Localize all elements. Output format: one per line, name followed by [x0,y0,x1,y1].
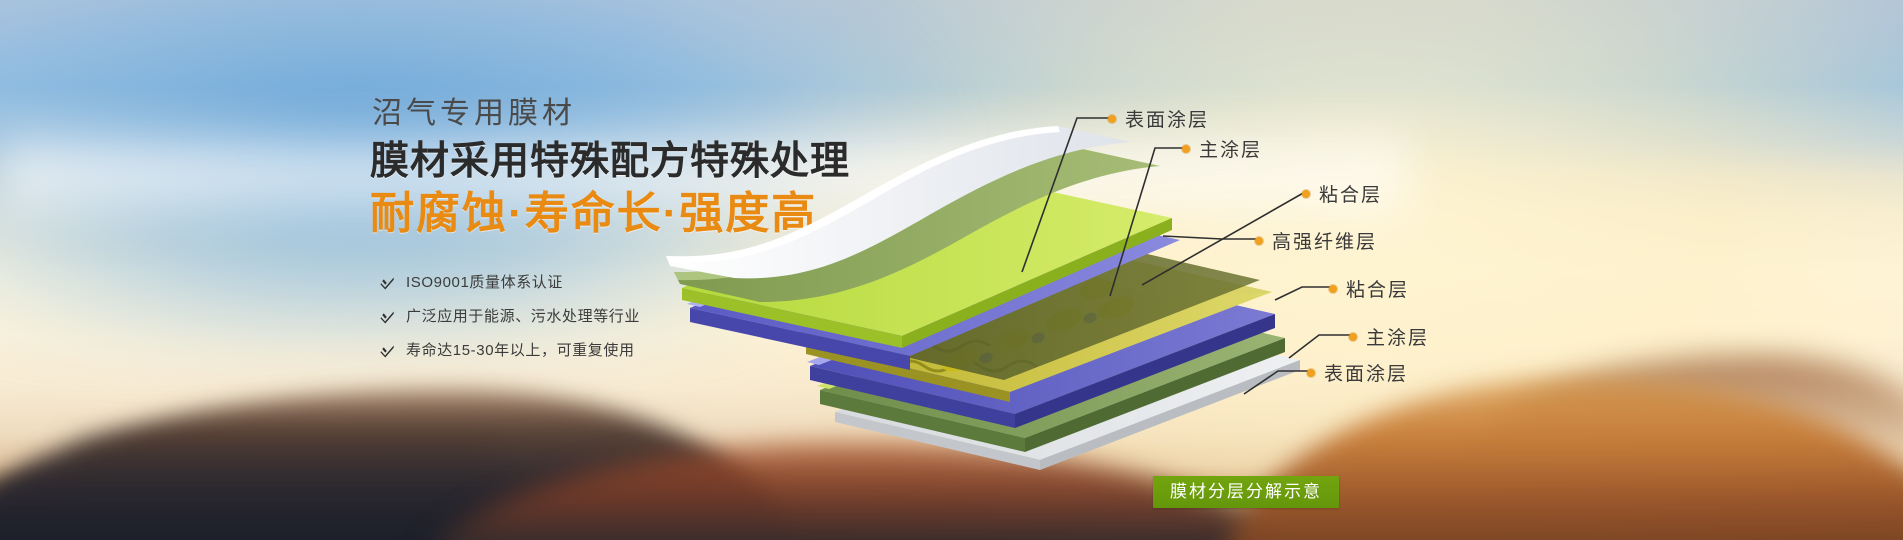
check-icon [380,310,395,325]
list-item-label: 广泛应用于能源、污水处理等行业 [406,308,640,326]
promo-banner: 沼气专用膜材 膜材采用特殊配方特殊处理 耐腐蚀·寿命长·强度高 ISO9001质… [0,0,1903,540]
check-icon [380,276,395,291]
diagram-caption-badge: 膜材分层分解示意 [1153,476,1339,508]
check-icon [380,344,395,359]
list-item-label: ISO9001质量体系认证 [406,274,563,292]
list-item-label: 寿命达15-30年以上，可重复使用 [406,342,635,360]
membrane-layer-diagram [660,60,1360,480]
